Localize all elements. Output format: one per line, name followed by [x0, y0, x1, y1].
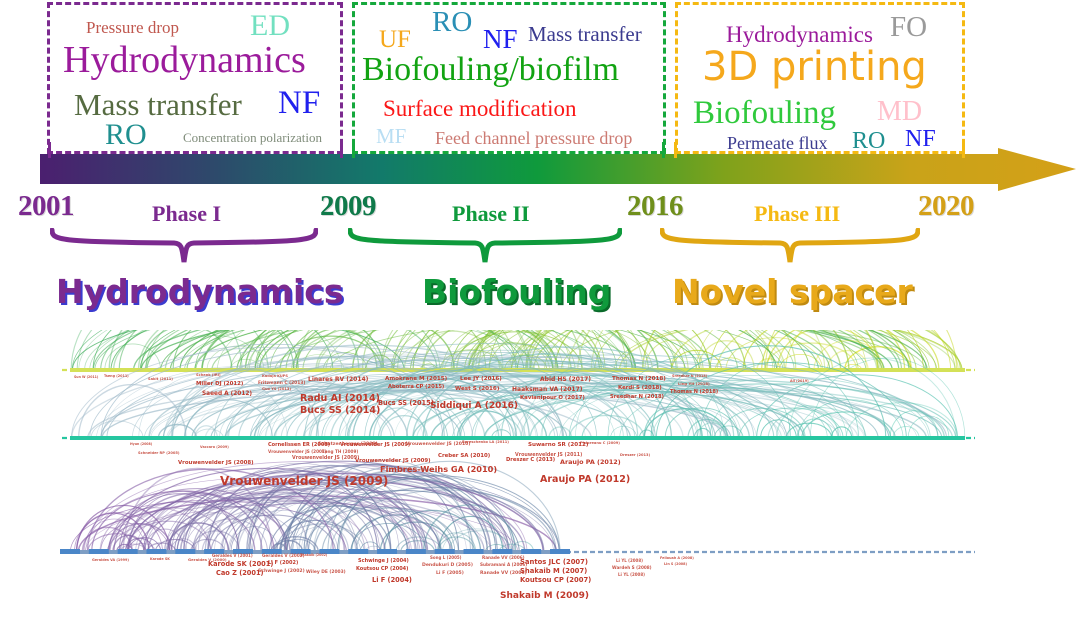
- network-node-label: Geraldes V (2001): [212, 554, 253, 558]
- network-node-label: Haaksman VA (2017): [512, 387, 583, 393]
- network-node-label: Vrouwenvelder JS (2008): [178, 461, 254, 466]
- phase-brace: [660, 228, 920, 266]
- wordcloud-term: Mass transfer: [528, 24, 642, 45]
- phase-label: Phase III: [754, 203, 840, 225]
- network-node-label: Santos JLC (2007): [520, 559, 588, 566]
- network-node-label: Araujo PA (2012): [560, 459, 621, 465]
- network-node-label: Fellouah A (2008): [660, 557, 694, 560]
- wordcloud-term: MD: [877, 98, 922, 126]
- network-node-label: Schneider RP (2005): [138, 452, 179, 456]
- network-node-label: Dendukuri D (2005): [422, 564, 473, 569]
- network-node-label: Linares RV (2014): [308, 377, 368, 383]
- network-node-label: Li F (2005): [436, 572, 464, 577]
- network-node: [464, 549, 484, 554]
- wordcloud-term: Mass transfer: [74, 89, 242, 120]
- network-node-label: Geraldes V (2002): [262, 554, 305, 558]
- phase-title: Hydrodynamics: [56, 275, 344, 308]
- network-node-label: Vaccaro (2009): [200, 446, 229, 449]
- network-node: [406, 549, 426, 554]
- tick-2016b: [674, 142, 677, 158]
- network-node-label: Thomas N (2018): [612, 377, 666, 383]
- network-node-label: Shakaib M (2009): [500, 592, 589, 601]
- network-node-label: Kavianipour O (2017): [520, 396, 585, 401]
- wordcloud-term: RO: [105, 120, 147, 150]
- network-node-label: Guo YS (2013): [262, 388, 291, 392]
- network-node-label: Lin S (2008): [664, 563, 687, 566]
- wordcloud-term: Hydrodynamics: [726, 23, 873, 46]
- network-node-label: Song L (2005): [430, 556, 461, 560]
- wordcloud-term: Biofouling/biofilm: [362, 53, 619, 87]
- timeline-year: 2001: [18, 192, 74, 221]
- wordcloud-term: NF: [278, 87, 320, 120]
- wordcloud-term: Feed channel pressure drop: [435, 129, 632, 147]
- phase-brace: [50, 228, 318, 266]
- tick-2009b: [352, 142, 355, 158]
- citation-network: Sun W (2011)Tseng (2011)Sakit (2011)Sche…: [0, 330, 1080, 621]
- wordcloud-term: Hydrodynamics: [63, 41, 306, 79]
- network-node-label: Karode SK: [150, 558, 170, 561]
- network-node-label: Li F (2004): [372, 577, 412, 584]
- wordcloud-term: Biofouling: [693, 97, 836, 130]
- network-node-label: Hyun (2008): [130, 443, 152, 446]
- network-node-label: Sakit (2011): [148, 378, 173, 382]
- network-node-label: Wiley DE (2003): [306, 571, 346, 575]
- network-node-label: Li YL (2008): [616, 559, 643, 563]
- network-node-label: Bucs SS (2015): [378, 400, 434, 407]
- tick-2020: [962, 142, 965, 158]
- network-node: [175, 549, 195, 554]
- network-node-label: West S (2016): [455, 387, 499, 393]
- network-node-label: Kadaja KUPS: [262, 375, 288, 379]
- network-node-label: Vrouwenvelder JS (2007): [268, 450, 327, 454]
- timeline-year: 2009: [320, 192, 376, 221]
- network-node-label: Ling YH (2018): [678, 382, 710, 386]
- network-node-label: Sun W (2011): [74, 376, 98, 379]
- wordcloud-term: NF: [483, 26, 518, 53]
- wordcloud-term: Concentration polarization: [183, 131, 322, 144]
- network-node: [60, 549, 80, 554]
- network-node-label: Geraldes VA (1999): [92, 559, 129, 562]
- network-node-label: Bucs SS (2014): [300, 406, 380, 416]
- network-node: [435, 549, 455, 554]
- network-node-label: Karode SK (2001): [208, 561, 273, 568]
- network-node-label: Abid HS (2017): [540, 377, 591, 383]
- network-node-label: Koutsou CP (2004): [356, 567, 408, 572]
- network-node-label: Bereschenko LA (2011): [462, 441, 509, 445]
- network-node-label: Shakaib M (2007): [520, 568, 587, 575]
- network-node: [146, 549, 166, 554]
- network-node-label: Sreedhar N (2018): [610, 395, 664, 400]
- network-node-label: Vrouwenvelder JS (2009): [220, 475, 388, 487]
- network-node-label: Fimbres-Weihs GA (2010): [380, 465, 497, 473]
- wordcloud-term: Pressure drop: [86, 19, 179, 36]
- network-node-label: Araujo PA (2012): [540, 475, 630, 485]
- network-node-label: Aboterra CP (2015): [388, 385, 444, 390]
- network-node-label: Radu AI (2014): [300, 394, 380, 404]
- network-node-label: Long TH (2009): [322, 450, 358, 454]
- network-node-label: Dreszer (2013): [620, 454, 650, 458]
- wordcloud-term: FO: [890, 13, 927, 42]
- tick-2016a: [662, 142, 665, 158]
- network-node-label: Schwinge J (2004): [358, 559, 409, 564]
- phase-brace: [348, 228, 622, 266]
- phase-title: Biofouling: [422, 275, 611, 308]
- network-node: [550, 549, 570, 554]
- network-node-label: Lee JY (2016): [460, 377, 502, 383]
- network-node: [89, 549, 109, 554]
- network-node: [521, 549, 541, 554]
- network-node-label: Schwinge J (2002): [258, 570, 305, 575]
- tick-2009a: [340, 142, 343, 158]
- network-node-label: Creber SA (2010): [438, 454, 490, 459]
- network-node-label: Ranade VV (2006): [482, 556, 525, 560]
- network-node-label: Miller DJ (2012): [196, 382, 243, 387]
- network-node: [348, 549, 368, 554]
- timeline-arrow: [40, 148, 1076, 192]
- network-node-label: Saeed A (2012): [202, 392, 252, 398]
- network-node-label: Fritzmann C (2013): [258, 382, 305, 386]
- network-node: [118, 549, 138, 554]
- phase-title: Novel spacer: [672, 275, 913, 308]
- network-node-label: Vrouwenvelder JS (2009): [340, 443, 410, 448]
- timeline-year: 2020: [918, 192, 974, 221]
- network-node: [377, 549, 397, 554]
- network-node: [492, 549, 512, 554]
- network-node-label: Shakaib (2002): [300, 554, 327, 557]
- network-node-label: Picioreanu C (2009): [580, 442, 620, 446]
- network-node-label: Vrouwenvelder JS (2009): [292, 457, 359, 462]
- network-node-label: Koutsou CP (2007): [520, 577, 591, 584]
- phase-2-wordcloud: ROUFNFMass transferBiofouling/biofilmSur…: [352, 2, 666, 154]
- network-node-label: Li YL (2008): [618, 573, 645, 577]
- network-node-label: Amokrane M (2015): [385, 377, 447, 383]
- network-node-label: Kerdi S (2018): [618, 386, 662, 391]
- wordcloud-term: 3D printing: [702, 47, 927, 87]
- wordcloud-term: ED: [250, 11, 290, 41]
- phase-3-wordcloud: HydrodynamicsFO3D printingBiofoulingMDPe…: [675, 2, 965, 154]
- wordcloud-term: MF: [376, 126, 406, 147]
- wordcloud-term: Surface modification: [383, 97, 577, 120]
- network-node-label: Vrouwenvelder JS (2010): [406, 443, 470, 448]
- network-node-label: Siddiqui A (2016): [430, 402, 518, 411]
- wordcloud-term: UF: [379, 27, 411, 52]
- phase-label: Phase II: [452, 203, 530, 225]
- tick-2001: [48, 142, 51, 158]
- phase-label: Phase I: [152, 203, 221, 225]
- network-node-label: Cao Z (2001): [216, 570, 264, 577]
- network-node-label: Schenk (IRI): [196, 374, 221, 378]
- network-node-label: Ali (2019): [790, 380, 809, 383]
- network-node-label: Tseng (2011): [104, 375, 129, 378]
- network-node-label: Sreedhar N (2018): [672, 375, 707, 378]
- timeline-year: 2016: [627, 192, 683, 221]
- network-node-label: Wardeh S (2008): [612, 566, 652, 570]
- phase-1-wordcloud: Pressure dropEDHydrodynamicsMass transfe…: [47, 2, 343, 154]
- network-node-label: Thomas N (2018): [670, 390, 718, 395]
- wordcloud-term: RO: [432, 8, 472, 37]
- figure-stage: Pressure dropEDHydrodynamicsMass transfe…: [0, 0, 1080, 621]
- network-node-label: Li F (2002): [268, 561, 298, 566]
